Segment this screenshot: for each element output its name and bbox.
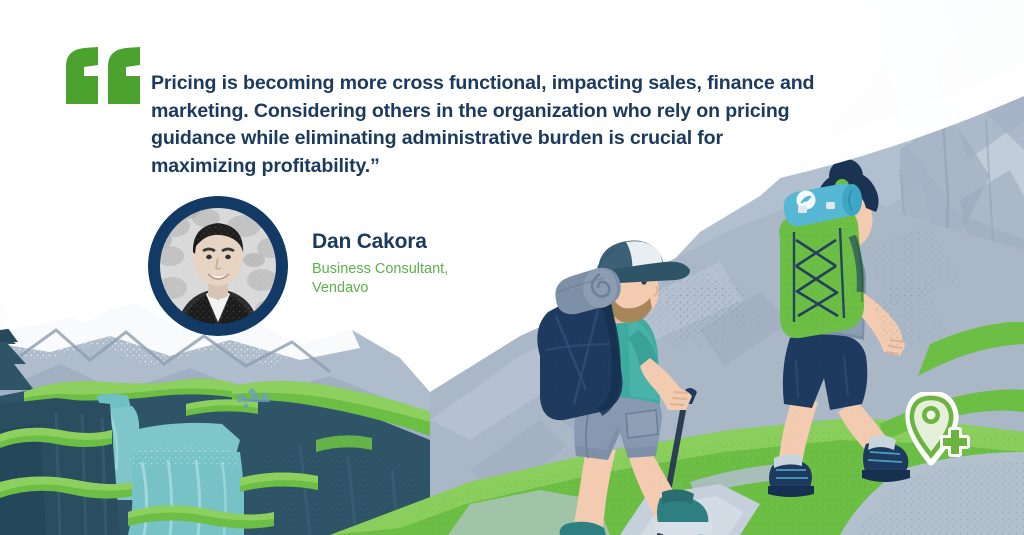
attribution-text: Dan Cakora Business Consultant, Vendavo <box>312 230 448 301</box>
quote-card: Pricing is becoming more cross functiona… <box>0 0 1024 535</box>
author-role-line-2: Vendavo <box>312 280 368 296</box>
author-name: Dan Cakora <box>312 230 448 253</box>
author-role-line-1: Business Consultant, <box>312 261 448 277</box>
avatar <box>148 196 288 336</box>
map-pin-plus-icon <box>905 392 971 468</box>
avatar-portrait <box>148 196 288 336</box>
author-role: Business Consultant, Vendavo <box>312 260 448 298</box>
quote-text: Pricing is becoming more cross functiona… <box>151 70 821 180</box>
attribution: Dan Cakora Business Consultant, Vendavo <box>148 196 448 336</box>
quotation-mark-icon <box>64 44 144 114</box>
